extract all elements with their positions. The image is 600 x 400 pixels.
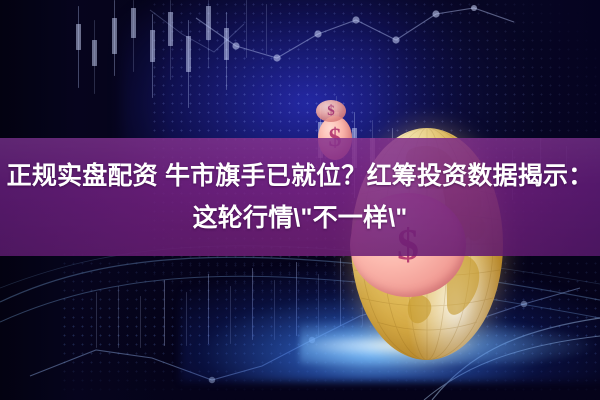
headline-block: 正规实盘配资 牛市旗手已就位？红筹投资数据揭示： 这轮行情\"不一样\" [0, 138, 600, 256]
dollar-coin-small: $ [316, 100, 346, 122]
banner-image: $ $ $ 正规实盘配资 牛市旗手已就位？红筹投资数据揭示： 这轮行情\"不一样… [0, 0, 600, 400]
dollar-symbol: $ [327, 104, 335, 119]
headline-line-1: 正规实盘配资 牛市旗手已就位？红筹投资数据揭示： [7, 156, 594, 196]
headline-line-2: 这轮行情\"不一样\" [193, 198, 408, 238]
